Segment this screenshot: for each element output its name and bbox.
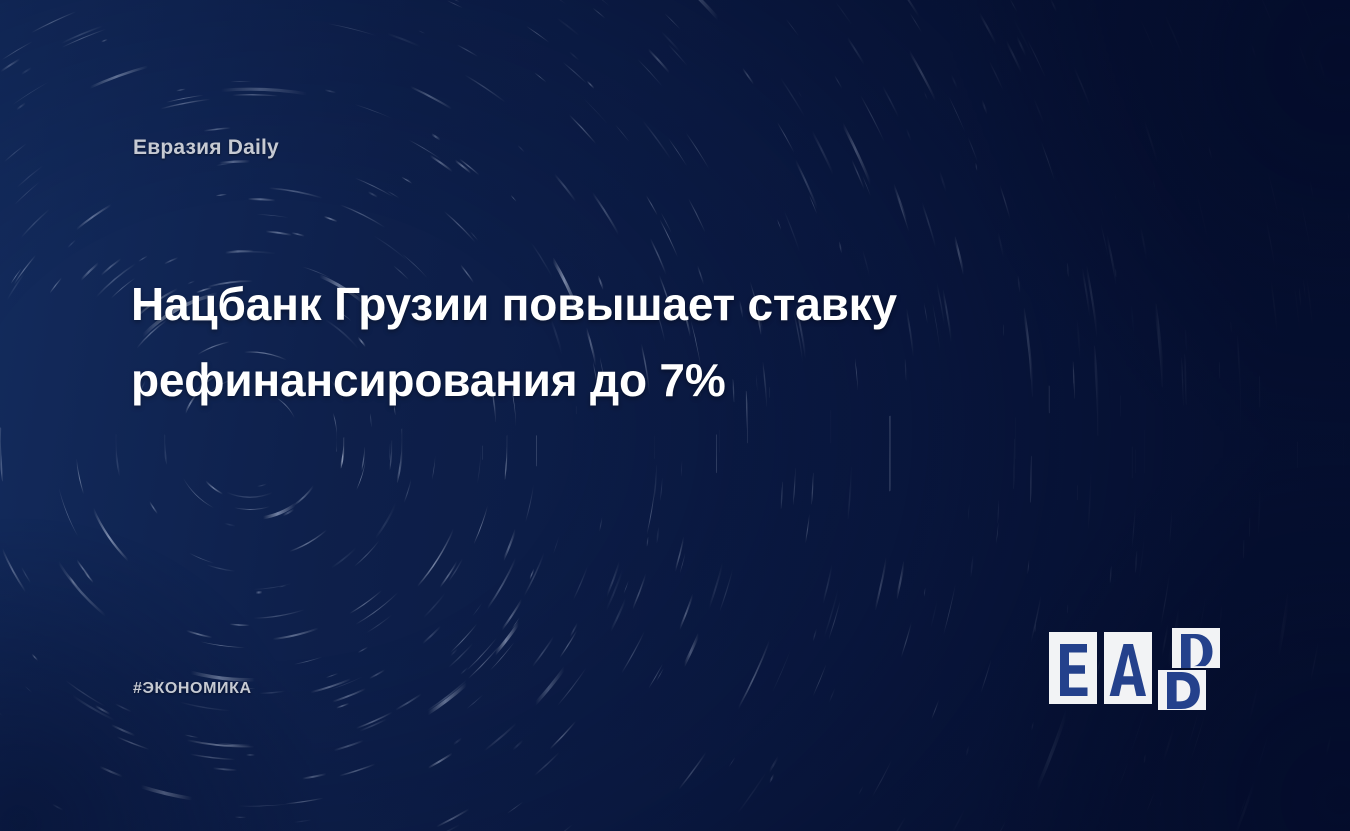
headline-line-1: Нацбанк Грузии повышает ставку [131, 266, 1091, 342]
logo-tile-a [1104, 632, 1152, 704]
news-card: Евразия Daily Нацбанк Грузии повышает ст… [0, 0, 1350, 831]
brand-name[interactable]: Евразия Daily [133, 136, 279, 160]
logo-tile-d-upper [1172, 628, 1220, 668]
eadaily-logo[interactable] [1045, 620, 1240, 720]
page-title: Нацбанк Грузии повышает ставку рефинанси… [131, 266, 1091, 418]
category-tag[interactable]: #ЭКОНОМИКА [133, 680, 252, 698]
logo-tile-d-split [1158, 628, 1220, 710]
logo-tile-e [1049, 632, 1097, 704]
logo-tile-d-lower [1158, 670, 1206, 710]
headline-line-2: рефинансирования до 7% [131, 342, 1091, 418]
